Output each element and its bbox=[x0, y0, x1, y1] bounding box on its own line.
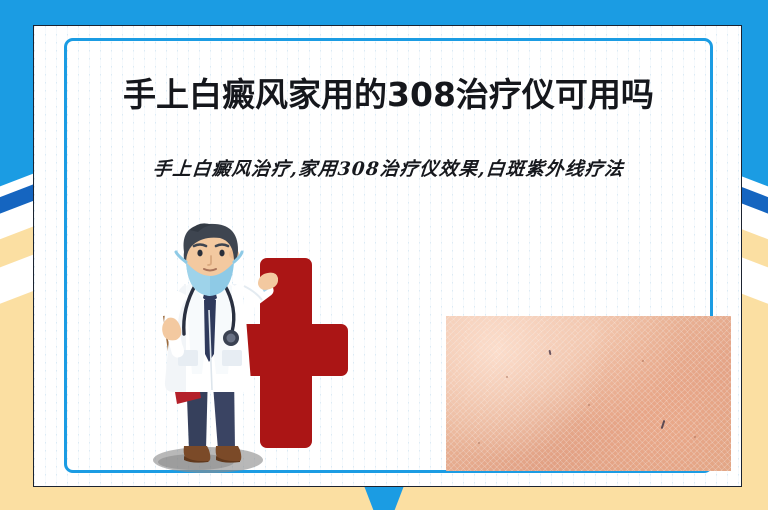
skin-photo-pore-3 bbox=[642, 360, 644, 362]
skin-photo-pore-1 bbox=[506, 376, 508, 378]
page-title: 手上白癜风家用的308治疗仪可用吗 bbox=[34, 68, 742, 116]
skin-photo-pore-4 bbox=[694, 436, 696, 438]
doctor-eyebrow-left bbox=[194, 245, 206, 247]
doctor-eye-right bbox=[219, 250, 224, 257]
page-subtitle: 手上白癜风治疗,家用308治疗仪效果,白斑紫外线疗法 bbox=[33, 155, 742, 181]
poster-canvas: 手上白癜风家用的308治疗仪可用吗 手上白癜风治疗,家用308治疗仪效果,白斑紫… bbox=[0, 0, 768, 510]
doctor-illustration bbox=[146, 222, 278, 484]
doctor-eyebrow-right bbox=[216, 245, 228, 247]
skin-closeup-photo bbox=[446, 316, 731, 471]
skin-photo-pore-5 bbox=[478, 442, 480, 444]
content-card: 手上白癜风家用的308治疗仪可用吗 手上白癜风治疗,家用308治疗仪效果,白斑紫… bbox=[33, 25, 742, 487]
doctor-pocket-right bbox=[222, 350, 242, 366]
skin-photo-pore-2 bbox=[588, 404, 590, 406]
skin-photo-texture bbox=[446, 316, 731, 471]
doctor-eye-left bbox=[197, 250, 202, 257]
doctor-hand-right bbox=[258, 273, 278, 290]
